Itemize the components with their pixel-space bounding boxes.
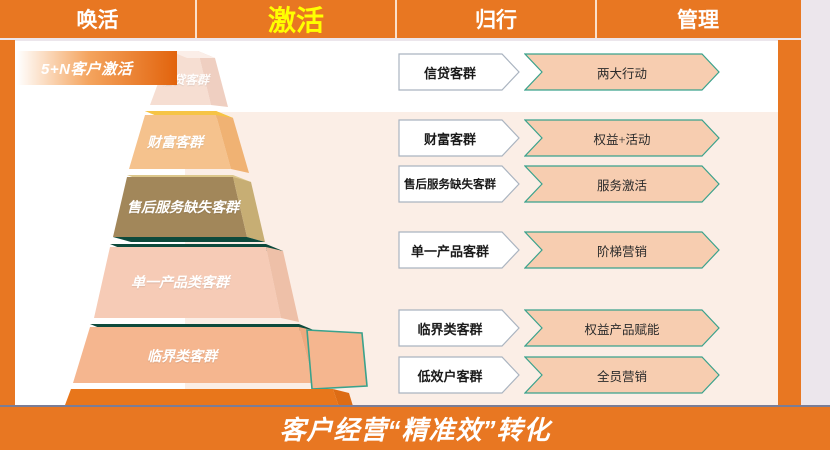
detached-tile (307, 330, 367, 389)
segment-label-4[interactable]: 单一产品客群 (398, 231, 520, 269)
customer-segment-pyramid: 信贷客群 财富客群 售后服务缺失客群 单一产品类客群 临界类客群 低效户客群 (15, 41, 385, 405)
pyramid-label-4: 单一产品类客群 (100, 272, 260, 292)
flow-row-2: 财富客群 权益+活动 (398, 119, 728, 157)
flow-row-1: 信贷客群 两大行动 (398, 53, 728, 91)
pyramid-layer-6-face (53, 389, 349, 405)
tab-label: 唤活 (77, 4, 119, 34)
action-arrow-text: 全员营销 (524, 356, 720, 394)
flow-row-6: 低效户客群 全员营销 (398, 356, 728, 394)
flow-row-4: 单一产品客群 阶梯营销 (398, 231, 728, 269)
slide-root: 唤活 激活 归行 管理 (0, 0, 830, 450)
segment-label-1[interactable]: 信贷客群 (398, 53, 520, 91)
segment-label-text: 财富客群 (398, 119, 502, 157)
pyramid-label-5: 临界类客群 (112, 346, 252, 366)
action-arrow-2[interactable]: 权益+活动 (524, 119, 720, 157)
action-arrow-3[interactable]: 服务激活 (524, 165, 720, 203)
action-arrow-text: 权益产品赋能 (524, 309, 720, 347)
left-orange-bar (0, 40, 15, 405)
pyramid-label-2: 财富客群 (125, 132, 225, 152)
right-orange-bar (778, 40, 801, 405)
segment-label-text: 信贷客群 (398, 53, 502, 91)
segment-label-5[interactable]: 临界类客群 (398, 309, 520, 347)
action-arrow-5[interactable]: 权益产品赋能 (524, 309, 720, 347)
segment-label-text: 低效户客群 (398, 356, 502, 394)
pyramid-label-3: 售后服务缺失客群 (103, 197, 263, 217)
segment-label-6[interactable]: 低效户客群 (398, 356, 520, 394)
tab-guixing[interactable]: 归行 (395, 0, 595, 38)
tab-guanli[interactable]: 管理 (595, 0, 799, 38)
five-plus-n-label: 5+N客户激活 (41, 58, 132, 79)
flow-row-5: 临界类客群 权益产品赋能 (398, 309, 728, 347)
header-tabs: 唤活 激活 归行 管理 (0, 0, 801, 38)
tab-jihuo[interactable]: 激活 (195, 0, 395, 38)
action-arrow-1[interactable]: 两大行动 (524, 53, 720, 91)
tab-label: 激活 (268, 0, 324, 39)
five-plus-n-badge: 5+N客户激活 (17, 51, 177, 85)
action-arrow-4[interactable]: 阶梯营销 (524, 231, 720, 269)
action-arrow-text: 权益+活动 (524, 119, 720, 157)
tab-label: 归行 (475, 4, 517, 34)
segment-label-3[interactable]: 售后服务缺失客群 (398, 165, 520, 203)
bottom-banner-text: 客户经营“精准效”转化 (279, 410, 550, 447)
action-arrow-text: 阶梯营销 (524, 231, 720, 269)
tab-label: 管理 (677, 4, 719, 34)
action-arrow-6[interactable]: 全员营销 (524, 356, 720, 394)
bottom-banner: 客户经营“精准效”转化 (0, 407, 830, 450)
segment-label-text: 临界类客群 (398, 309, 502, 347)
segment-label-2[interactable]: 财富客群 (398, 119, 520, 157)
action-arrow-text: 两大行动 (524, 53, 720, 91)
pyramid-layer-3-bottom-edge (113, 237, 265, 242)
flow-row-3: 售后服务缺失客群 服务激活 (398, 165, 728, 203)
segment-label-text: 售后服务缺失客群 (398, 165, 502, 203)
tab-huanhuo[interactable]: 唤活 (0, 0, 195, 38)
action-arrow-text: 服务激活 (524, 165, 720, 203)
segment-label-text: 单一产品客群 (398, 231, 502, 269)
